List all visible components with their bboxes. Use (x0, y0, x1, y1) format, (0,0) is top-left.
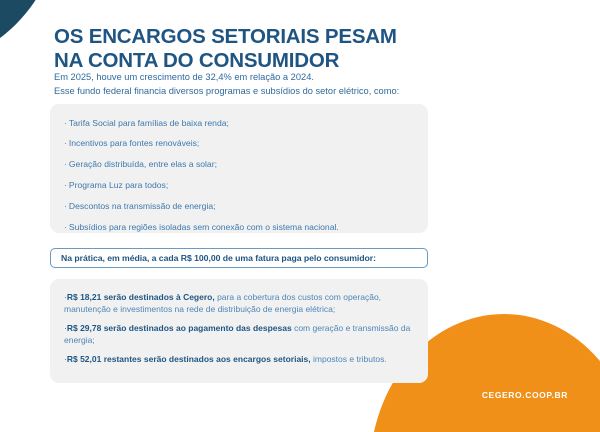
bullet-dot-icon: · (64, 118, 67, 128)
programs-list-panel: ·Tarifa Social para famílias de baixa re… (50, 104, 428, 233)
breakdown-description: impostos e tributos. (311, 354, 387, 364)
page-title: OS ENCARGOS SETORIAIS PESAM NA CONTA DO … (54, 25, 474, 73)
practical-example-callout-label: Na prática, em média, a cada R$ 100,00 d… (61, 253, 376, 263)
cost-breakdown-panel: ·R$ 18,21 serão destinados à Cegero, par… (50, 279, 428, 383)
breakdown-amount-label: R$ 18,21 serão destinados à Cegero, (67, 292, 215, 302)
breakdown-amount-label: R$ 29,78 serão destinados ao pagamento d… (67, 323, 292, 333)
page-subtitle: Em 2025, houve um crescimento de 32,4% e… (54, 71, 464, 99)
list-item: ·R$ 29,78 serão destinados ao pagamento … (64, 322, 414, 353)
page-subtitle-line-1: Em 2025, houve um crescimento de 32,4% e… (54, 71, 464, 85)
content-area: OS ENCARGOS SETORIAIS PESAM NA CONTA DO … (50, 0, 550, 432)
list-item: ·Geração distribuída, entre elas a solar… (64, 155, 414, 176)
breakdown-amount-label: R$ 52,01 restantes serão destinados aos … (67, 354, 311, 364)
list-item: ·Tarifa Social para famílias de baixa re… (64, 113, 414, 134)
bullet-dot-icon: · (64, 159, 67, 169)
list-item-label: Geração distribuída, entre elas a solar; (69, 159, 217, 169)
bullet-dot-icon: · (64, 201, 67, 211)
list-item: ·Subsídios para regiões isoladas sem con… (64, 217, 414, 238)
practical-example-callout: Na prática, em média, a cada R$ 100,00 d… (50, 248, 428, 268)
list-item-label: Incentivos para fontes renováveis; (69, 138, 199, 148)
page-title-line-1: OS ENCARGOS SETORIAIS PESAM (54, 25, 474, 49)
list-item: ·R$ 52,01 restantes serão destinados aos… (64, 353, 414, 365)
list-item: ·Programa Luz para todos; (64, 175, 414, 196)
list-item: ·R$ 18,21 serão destinados à Cegero, par… (64, 291, 414, 322)
bullet-dot-icon: · (64, 180, 67, 190)
bullet-dot-icon: · (64, 222, 67, 232)
page-title-line-2: NA CONTA DO CONSUMIDOR (54, 49, 474, 73)
list-item: ·Descontos na transmissão de energia; (64, 196, 414, 217)
list-item: ·Incentivos para fontes renováveis; (64, 134, 414, 155)
list-item-label: Programa Luz para todos; (69, 180, 168, 190)
bullet-dot-icon: · (64, 138, 67, 148)
list-item-label: Subsídios para regiões isoladas sem cone… (69, 222, 339, 232)
infographic-poster: CEGERO.COOP.BR OS ENCARGOS SETORIAIS PES… (0, 0, 600, 432)
page-subtitle-line-2: Esse fundo federal financia diversos pro… (54, 85, 464, 99)
list-item-label: Descontos na transmissão de energia; (69, 201, 216, 211)
list-item-label: Tarifa Social para famílias de baixa ren… (69, 118, 229, 128)
